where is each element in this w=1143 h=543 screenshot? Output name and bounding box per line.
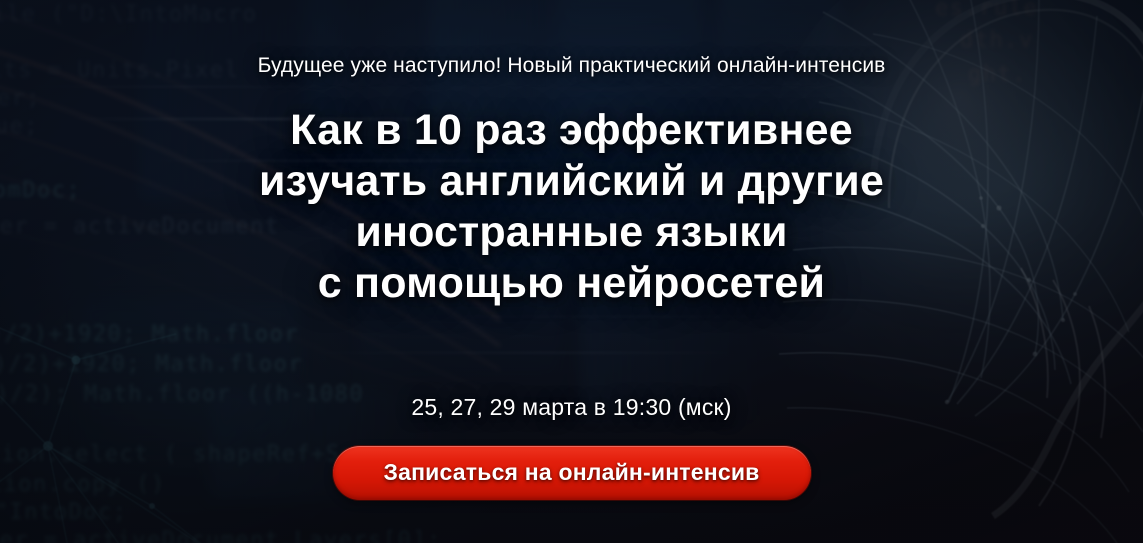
hero-cta-wrap: Записаться на онлайн-интенсив [333, 446, 811, 500]
signup-button[interactable]: Записаться на онлайн-интенсив [333, 446, 811, 500]
headline-line: Как в 10 раз эффективнее [259, 105, 884, 156]
hero-datetime: 25, 27, 29 марта в 19:30 (мск) [411, 393, 731, 421]
headline-line: с помощью нейросетей [259, 258, 884, 309]
hero-eyebrow: Будущее уже наступило! Новый практически… [258, 53, 886, 79]
hero-headline: Как в 10 раз эффективнееизучать английск… [259, 105, 884, 309]
headline-line: иностранные языки [259, 207, 884, 258]
hero-content: Будущее уже наступило! Новый практически… [0, 0, 1143, 543]
headline-line: изучать английский и другие [259, 156, 884, 207]
hero-banner: ile ("D:\IntoMacronits = Units.Pixelder;… [0, 0, 1143, 543]
